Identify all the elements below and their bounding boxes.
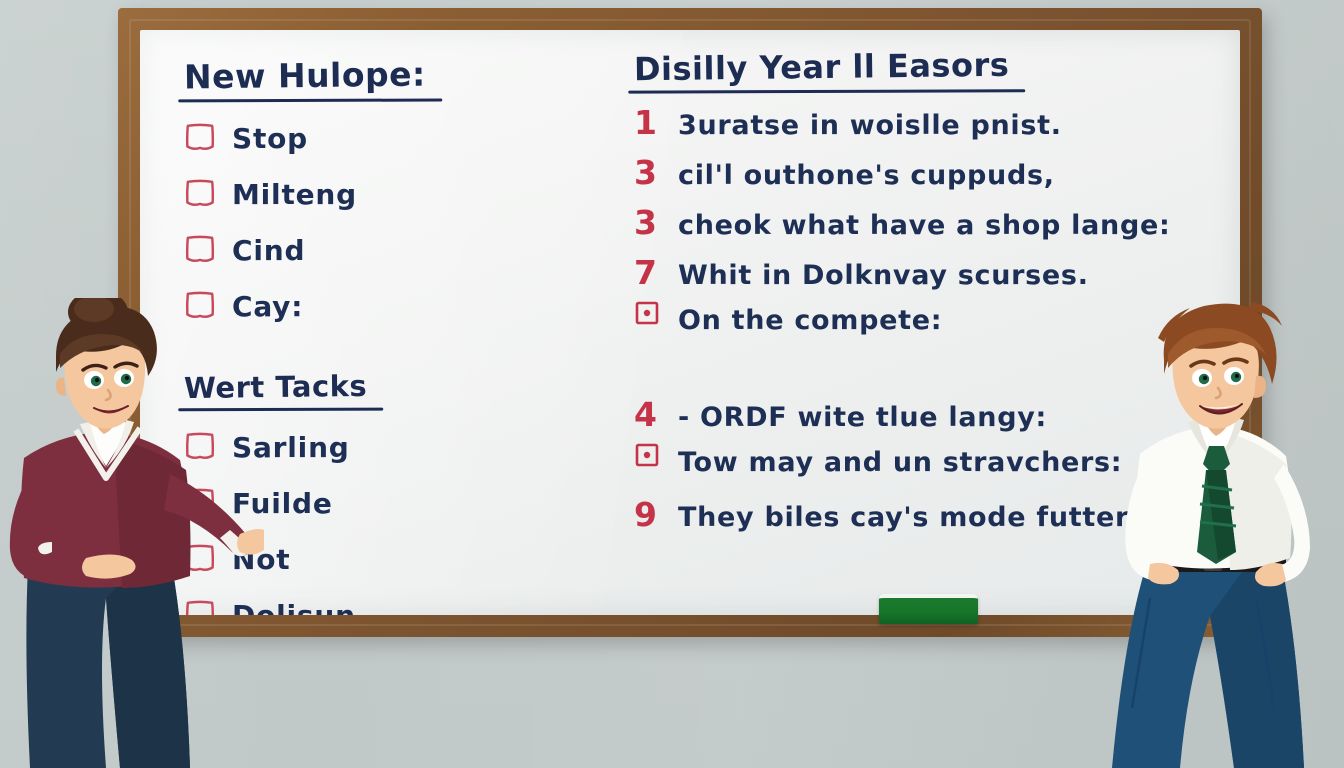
- list-item[interactable]: 3 cheok what have a shop lange:: [634, 203, 1240, 249]
- list-item[interactable]: Cind: [184, 228, 614, 272]
- list-item-label: Stop: [232, 122, 308, 155]
- dotted-square-bullet-icon: [634, 300, 664, 326]
- checkbox-icon[interactable]: [184, 179, 216, 209]
- heading-underline: [628, 89, 1025, 93]
- male-student: [1106, 298, 1336, 768]
- list-item[interactable]: Stop: [184, 116, 614, 160]
- list-item-label: Cind: [232, 234, 305, 267]
- list-item-label: - ORDF wite tlue langy:: [678, 402, 1047, 433]
- list-item[interactable]: 3 cil'l outhone's cuppuds,: [634, 153, 1240, 199]
- list-item-label: They biles cay's mode futters...: [678, 502, 1179, 533]
- left-heading-text: New Hulope:: [184, 55, 426, 97]
- left-checklist-primary: Stop Milteng Cind: [184, 116, 614, 328]
- whiteboard-surface: New Hulope: Stop Milteng: [140, 30, 1240, 615]
- list-marker-number: 1: [634, 103, 664, 142]
- female-teacher: [0, 298, 264, 768]
- list-item-label: cheok what have a shop lange:: [678, 210, 1171, 241]
- list-item-label: Milteng: [232, 178, 357, 211]
- list-marker-number: 3: [634, 203, 664, 242]
- list-item-label: Whit in Dolknvay scurses.: [678, 260, 1089, 291]
- classroom-scene: New Hulope: Stop Milteng: [0, 0, 1344, 768]
- right-heading-text: Disilly Year ll Easors: [634, 46, 1010, 89]
- whiteboard-eraser[interactable]: [879, 594, 978, 624]
- whiteboard-frame: New Hulope: Stop Milteng: [118, 8, 1262, 637]
- list-item-label: Tow may and un stravchers:: [678, 447, 1122, 478]
- dotted-square-bullet-icon: [634, 442, 664, 468]
- left-heading-new-hulope: New Hulope:: [184, 55, 426, 104]
- list-marker-number: 4: [634, 395, 664, 434]
- heading-underline: [178, 98, 442, 102]
- list-marker-number: 9: [634, 495, 664, 534]
- list-marker-number: 3: [634, 153, 664, 192]
- list-item[interactable]: Milteng: [184, 172, 614, 216]
- list-marker-number: 7: [634, 253, 664, 292]
- right-heading-disilly-year: Disilly Year ll Easors: [634, 46, 1010, 96]
- checkbox-icon[interactable]: [184, 235, 216, 265]
- list-item-label: On the compete:: [678, 305, 942, 336]
- list-item-label: 3uratse in woislle pnist.: [678, 110, 1062, 141]
- checkbox-icon[interactable]: [184, 123, 216, 153]
- list-item[interactable]: 7 Whit in Dolknvay scurses.: [634, 253, 1240, 299]
- list-item[interactable]: 1 3uratse in woislle pnist.: [634, 103, 1240, 149]
- list-item-label: cil'l outhone's cuppuds,: [678, 160, 1055, 191]
